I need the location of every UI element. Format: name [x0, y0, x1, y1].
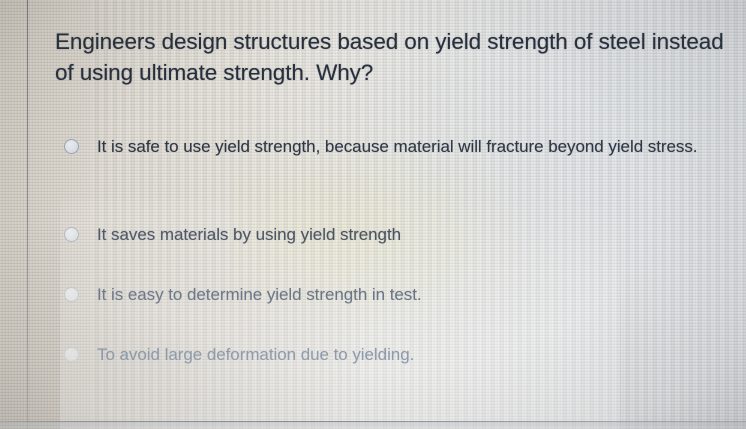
- answer-option-d-label: To avoid large deformation due to yieldi…: [97, 342, 414, 367]
- answer-option-c-label: It is easy to determine yield strength i…: [97, 282, 422, 307]
- radio-button-a-icon[interactable]: [64, 139, 79, 154]
- question-text: Engineers design structures based on yie…: [55, 26, 740, 88]
- radio-button-b-icon[interactable]: [64, 227, 79, 242]
- answer-options-list: It is safe to use yield strength, becaus…: [0, 134, 746, 370]
- quiz-screenshot: Engineers design structures based on yie…: [0, 0, 746, 429]
- answer-option-d[interactable]: To avoid large deformation due to yieldi…: [0, 342, 746, 370]
- radio-button-c-icon[interactable]: [64, 287, 79, 302]
- answer-option-b[interactable]: It saves materials by using yield streng…: [0, 222, 746, 250]
- answer-option-c[interactable]: It is easy to determine yield strength i…: [0, 282, 746, 310]
- radio-button-d-icon[interactable]: [64, 347, 79, 362]
- answer-option-a-label: It is safe to use yield strength, becaus…: [97, 134, 697, 159]
- answer-option-a[interactable]: It is safe to use yield strength, becaus…: [0, 134, 746, 162]
- answer-option-b-label: It saves materials by using yield streng…: [97, 222, 401, 247]
- bottom-edge-shade: [0, 422, 746, 429]
- quiz-content: Engineers design structures based on yie…: [0, 0, 746, 429]
